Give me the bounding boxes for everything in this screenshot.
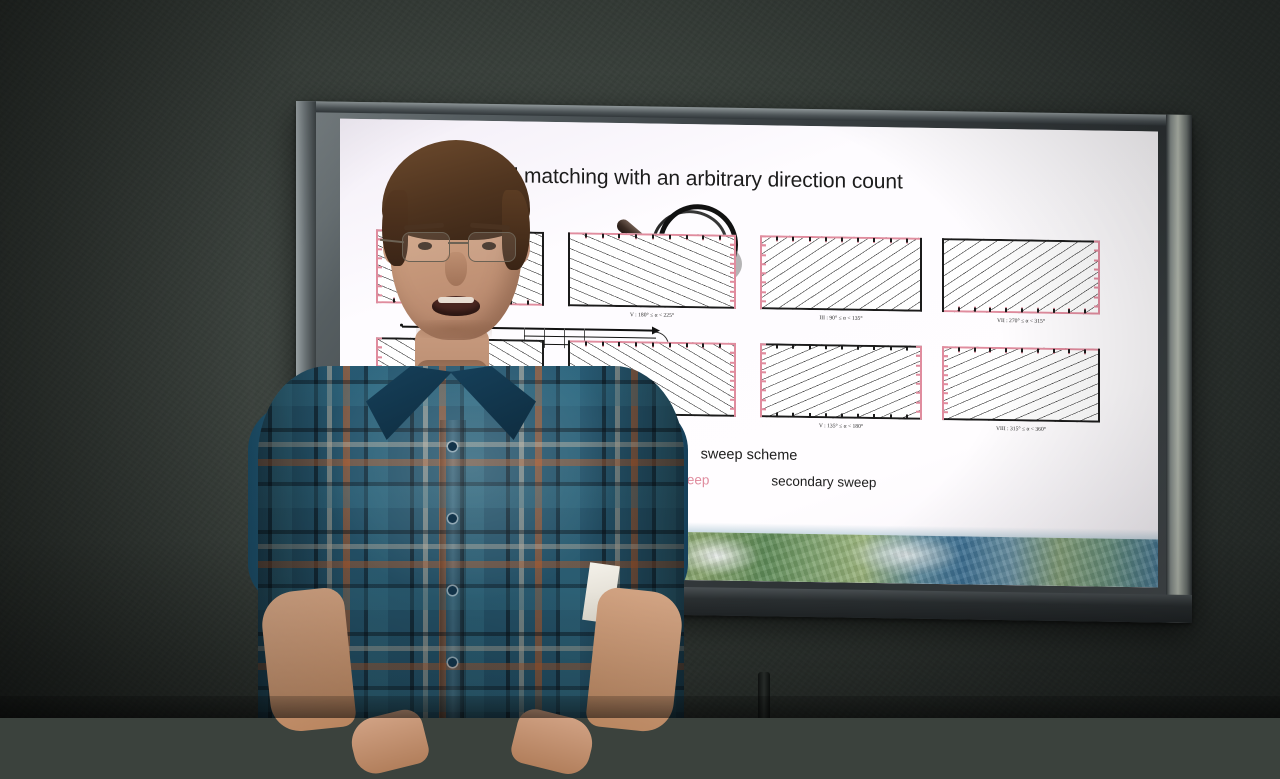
sweep-tick — [943, 383, 948, 385]
sweep-tick — [873, 346, 875, 350]
sweep-tick — [730, 389, 735, 391]
sweep-tick — [890, 414, 892, 418]
sweep-tick — [906, 347, 908, 351]
sweep-tick — [825, 413, 827, 417]
sweep-tick — [1037, 309, 1039, 313]
sweep-tick — [719, 236, 721, 240]
sweep-tick — [730, 244, 735, 246]
sweep-tick — [943, 374, 948, 376]
chin-shadow — [416, 320, 492, 338]
sweep-hatching — [760, 235, 922, 312]
sweep-tick — [1005, 308, 1007, 312]
shirt-button — [448, 442, 457, 451]
tv-bezel-right — [1166, 115, 1192, 623]
sweep-tick — [702, 343, 704, 347]
sweep-tick — [761, 408, 766, 410]
sweep-tick — [776, 237, 778, 241]
sweep-square — [760, 343, 922, 420]
sweep-square — [942, 238, 1100, 314]
sweep-cell-label: VII : 270° ≤ α < 315° — [942, 317, 1100, 325]
sweep-tick — [730, 371, 735, 373]
sweep-tick — [1084, 349, 1086, 353]
sweep-tick — [1005, 348, 1007, 352]
sweep-tick — [730, 343, 735, 345]
sweep-tick — [916, 355, 921, 357]
sweep-square — [942, 346, 1100, 422]
teeth — [438, 297, 474, 303]
sweep-cell-label: III : 90° ≤ α < 135° — [760, 314, 922, 323]
sweep-square — [760, 235, 922, 312]
sweep-tick — [943, 346, 948, 348]
sweep-tick — [841, 414, 843, 418]
sweep-tick — [890, 346, 892, 350]
sweep-tick — [825, 237, 827, 241]
sweep-tick — [1068, 349, 1070, 353]
sweep-tick — [1068, 309, 1070, 313]
sweep-tick — [1021, 308, 1023, 312]
sweep-tick — [974, 348, 976, 352]
sweep-tick — [730, 263, 735, 265]
shirt-button — [448, 658, 457, 667]
sweep-tick — [730, 272, 735, 274]
sweep-tick — [1053, 349, 1055, 353]
sweep-edge-right — [1098, 349, 1100, 423]
sweep-tick — [761, 390, 766, 392]
sweep-tick — [761, 300, 766, 302]
sweep-hatching — [942, 346, 1100, 422]
sweep-tick — [1084, 309, 1086, 313]
sweep-tick — [761, 263, 766, 265]
sweep-tick — [916, 401, 921, 403]
sweep-tick — [989, 348, 991, 352]
sweep-tick — [943, 392, 948, 394]
sweep-tick — [792, 237, 794, 241]
sweep-tick — [809, 413, 811, 417]
sweep-tick — [761, 272, 766, 274]
sweep-tick — [958, 307, 960, 311]
sweep-tick — [792, 413, 794, 417]
sweep-tick — [943, 402, 948, 404]
sweep-tick — [1094, 305, 1099, 307]
sweep-tick — [730, 352, 735, 354]
sweep-tick — [825, 345, 827, 349]
sweep-tick — [730, 408, 735, 410]
sweep-tick — [730, 235, 735, 237]
sweep-tick — [761, 362, 766, 364]
sweep-tick — [916, 392, 921, 394]
sweep-tick — [761, 282, 766, 284]
sweep-tick — [730, 281, 735, 283]
presenter-person — [240, 128, 700, 718]
sweep-tick — [761, 254, 766, 256]
sweep-tick — [873, 414, 875, 418]
sweep-tick — [943, 355, 948, 357]
sweep-tick — [890, 238, 892, 242]
sweep-tick — [906, 415, 908, 419]
sweep-tick — [841, 238, 843, 242]
sweep-tick — [809, 345, 811, 349]
sweep-tick — [776, 345, 778, 349]
sweep-tick — [809, 237, 811, 241]
sweep-tick — [1094, 277, 1099, 279]
sweep-tick — [730, 253, 735, 255]
sweep-tick — [906, 239, 908, 243]
sweep-edge-left — [942, 238, 944, 312]
sweep-tick — [776, 413, 778, 417]
sweep-tick — [761, 399, 766, 401]
sweep-tick — [916, 383, 921, 385]
foreground-surface — [0, 696, 1280, 718]
sweep-tick — [943, 411, 948, 413]
sweep-tick — [916, 364, 921, 366]
sweep-tick — [761, 343, 766, 345]
sweep-tick — [761, 291, 766, 293]
glasses-bridge — [448, 242, 468, 244]
sweep-cell-V2: V : 135° ≤ α < 180° — [760, 343, 922, 346]
sweep-hatching — [942, 238, 1100, 314]
sweep-tick — [1094, 287, 1099, 289]
sweep-tick — [1053, 309, 1055, 313]
sweep-cell-label: V : 135° ≤ α < 180° — [760, 422, 922, 431]
sweep-tick — [916, 410, 921, 412]
sweep-tick — [792, 345, 794, 349]
sweep-tick — [730, 290, 735, 292]
sweep-tick — [761, 371, 766, 373]
sweep-tick — [989, 308, 991, 312]
glasses-lens-left — [402, 232, 450, 262]
sweep-tick — [857, 238, 859, 242]
sweep-tick — [761, 380, 766, 382]
sweep-tick — [730, 300, 735, 302]
sweep-tick — [719, 344, 721, 348]
sweep-tick — [974, 308, 976, 312]
sweep-tick — [702, 235, 704, 239]
sweep-tick — [761, 235, 766, 237]
sweep-cell-label: VIII : 315° ≤ α < 360° — [942, 425, 1100, 433]
sweep-tick — [916, 346, 921, 348]
shirt-button — [448, 514, 457, 523]
sweep-edge-right — [920, 238, 922, 312]
glasses-lens-right — [468, 232, 516, 262]
sweep-tick — [873, 238, 875, 242]
sweep-tick — [916, 373, 921, 375]
sweep-tick — [841, 346, 843, 350]
sweep-tick — [1021, 348, 1023, 352]
sweep-tick — [1094, 296, 1099, 298]
sweep-tick — [857, 346, 859, 350]
sweep-tick — [958, 347, 960, 351]
sweep-tick — [1094, 250, 1099, 252]
sweep-tick — [761, 245, 766, 247]
legend-secondary-sweep: secondary sweep — [771, 473, 876, 490]
sweep-tick — [730, 361, 735, 363]
sweep-tick — [730, 380, 735, 382]
sweep-tick — [1094, 259, 1099, 261]
sweep-tick — [761, 353, 766, 355]
sweep-tick — [857, 414, 859, 418]
sweep-tick — [730, 398, 735, 400]
nose — [445, 252, 467, 286]
sweep-cell-VIII: VIII : 315° ≤ α < 360° — [942, 346, 1100, 348]
sweep-tick — [1037, 349, 1039, 353]
shirt-placket — [440, 420, 466, 718]
sweep-tick — [943, 365, 948, 367]
sweep-tick — [1094, 268, 1099, 270]
shirt-button — [448, 586, 457, 595]
sweep-hatching — [760, 343, 922, 420]
sweep-tick — [1094, 240, 1099, 242]
